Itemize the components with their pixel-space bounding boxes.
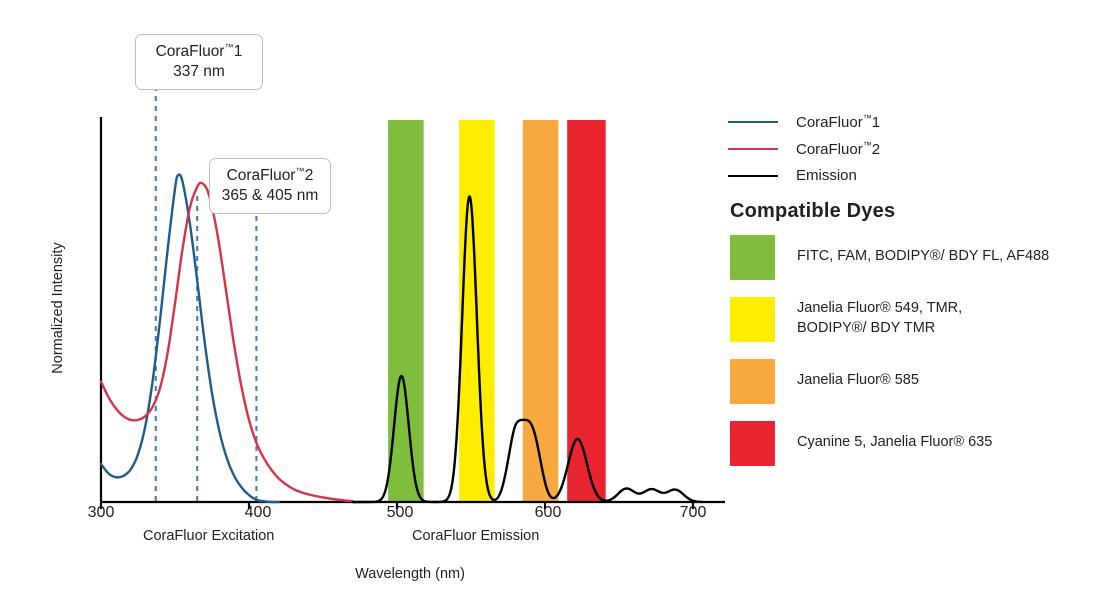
callout-corafluor2-line1: CoraFluor™2 — [220, 166, 320, 186]
legend-line-emission — [728, 175, 778, 177]
callout-corafluor1-wavelength: 337 nm — [146, 62, 252, 81]
x-tick-700: 700 — [663, 504, 723, 522]
trademark-icon: ™ — [295, 166, 304, 176]
series-legend: CoraFluor™1 CoraFluor™2 Emission — [728, 108, 1098, 189]
dye-color-swatch — [730, 297, 775, 342]
trademark-icon: ™ — [863, 140, 872, 150]
dye-row: Cyanine 5, Janelia Fluor® 635 — [730, 418, 1106, 468]
dye-color-swatch — [730, 421, 775, 466]
dye-label: Cyanine 5, Janelia Fluor® 635 — [797, 433, 992, 453]
x-axis-label: Wavelength (nm) — [0, 566, 820, 582]
curve-corafluor1 — [101, 175, 279, 503]
legend-item-corafluor1: CoraFluor™1 — [728, 108, 1098, 135]
dye-color-swatch — [730, 235, 775, 280]
callout-corafluor2-name: CoraFluor — [227, 167, 296, 184]
emission-band-orange — [523, 120, 559, 502]
callout-corafluor1: CoraFluor™1 337 nm — [135, 34, 263, 90]
dye-label: Janelia Fluor® 549, TMR,BODIPY®/ BDY TMR — [797, 299, 962, 338]
figure-root: CoraFluor™1 337 nm CoraFluor™2 365 & 405… — [0, 0, 1110, 612]
legend-line-corafluor1 — [728, 121, 778, 123]
x-region-emission: CoraFluor Emission — [412, 528, 539, 544]
legend-label-emission: Emission — [796, 167, 857, 184]
dye-label: Janelia Fluor® 585 — [797, 371, 919, 391]
dye-row: Janelia Fluor® 585 — [730, 356, 1106, 406]
legend-line-corafluor2 — [728, 148, 778, 150]
legend-item-emission: Emission — [728, 162, 1098, 189]
x-region-excitation: CoraFluor Excitation — [143, 528, 274, 544]
callout-corafluor1-line1: CoraFluor™1 — [146, 42, 252, 62]
compatible-dyes-list: FITC, FAM, BODIPY®/ BDY FL, AF488Janelia… — [730, 232, 1106, 480]
legend-item-corafluor2: CoraFluor™2 — [728, 135, 1098, 162]
dye-row: FITC, FAM, BODIPY®/ BDY FL, AF488 — [730, 232, 1106, 282]
callout-corafluor1-index: 1 — [234, 43, 243, 60]
emission-band-green — [388, 120, 424, 502]
compatible-dyes-title: Compatible Dyes — [730, 200, 895, 223]
trademark-icon: ™ — [224, 42, 233, 52]
dye-label: FITC, FAM, BODIPY®/ BDY FL, AF488 — [797, 247, 1049, 267]
callout-corafluor2: CoraFluor™2 365 & 405 nm — [209, 158, 331, 214]
callout-corafluor2-wavelength: 365 & 405 nm — [220, 186, 320, 205]
callout-corafluor2-index: 2 — [305, 167, 314, 184]
y-axis-label: Normalized Intensity — [50, 208, 66, 408]
x-tick-600: 600 — [518, 504, 578, 522]
legend-label-corafluor1: CoraFluor™1 — [796, 113, 880, 131]
dye-color-swatch — [730, 359, 775, 404]
dye-row: Janelia Fluor® 549, TMR,BODIPY®/ BDY TMR — [730, 294, 1106, 344]
x-tick-500: 500 — [370, 504, 430, 522]
x-tick-400: 400 — [228, 504, 288, 522]
trademark-icon: ™ — [863, 113, 872, 123]
legend-label-corafluor2: CoraFluor™2 — [796, 140, 880, 158]
callout-corafluor1-name: CoraFluor — [156, 43, 225, 60]
x-tick-300: 300 — [71, 504, 131, 522]
